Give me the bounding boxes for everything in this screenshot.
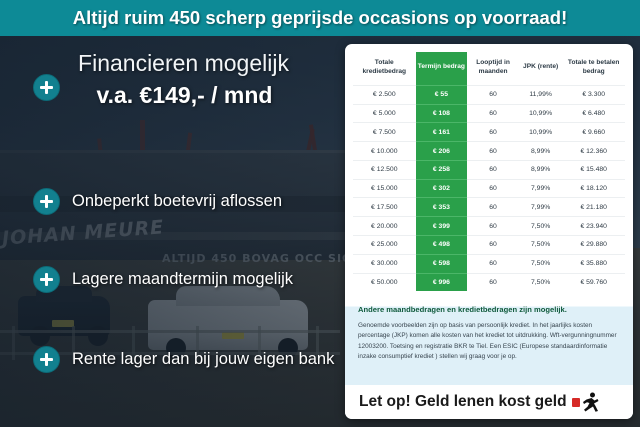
headline-line-1: Financieren mogelijk — [0, 50, 345, 77]
headline-line-2: v.a. €149,- / mnd — [0, 82, 345, 109]
cell-term: € 302 — [416, 179, 468, 198]
cell-apr: 7,99% — [519, 179, 563, 198]
disclaimer-body: Genoemde voorbeelden zijn op basis van p… — [358, 321, 620, 363]
table-row: € 5.000 € 108 60 10,99% € 6.480 — [353, 104, 625, 123]
cell-months: 60 — [467, 179, 519, 198]
cell-months: 60 — [467, 273, 519, 291]
cell-credit: € 20.000 — [353, 217, 416, 236]
plus-icon — [33, 188, 60, 215]
plus-icon — [33, 266, 60, 293]
cell-term: € 353 — [416, 198, 468, 217]
running-man-icon — [572, 392, 599, 412]
cell-apr: 7,50% — [519, 254, 563, 273]
table-row: € 7.500 € 161 60 10,99% € 9.660 — [353, 123, 625, 142]
running-man-glyph — [582, 392, 599, 412]
cell-total: € 3.300 — [562, 85, 625, 104]
cell-total: € 15.480 — [562, 160, 625, 179]
benefit-label: Lagere maandtermijn mogelijk — [72, 270, 293, 289]
cell-credit: € 15.000 — [353, 179, 416, 198]
cell-apr: 10,99% — [519, 123, 563, 142]
cell-term: € 206 — [416, 142, 468, 161]
table-body: € 2.500 € 55 60 11,99% € 3.300 € 5.000 €… — [353, 85, 625, 291]
cell-total: € 9.660 — [562, 123, 625, 142]
cell-term: € 498 — [416, 236, 468, 255]
column-header-credit: Totale kredietbedrag — [353, 52, 416, 85]
benefit-label: Onbeperkt boetevrij aflossen — [72, 192, 282, 211]
cell-months: 60 — [467, 160, 519, 179]
benefit-label: Rente lager dan bij jouw eigen bank — [72, 350, 334, 369]
cell-total: € 29.880 — [562, 236, 625, 255]
column-header-total: Totale te betalen bedrag — [562, 52, 625, 85]
cell-total: € 21.180 — [562, 198, 625, 217]
promo-banner-text: Altijd ruim 450 scherp geprijsde occasio… — [73, 7, 568, 29]
left-content-panel: Financieren mogelijk v.a. €149,- / mnd O… — [0, 36, 345, 427]
cell-apr: 10,99% — [519, 104, 563, 123]
column-header-term: Termijn bedrag — [416, 52, 468, 85]
cell-credit: € 17.500 — [353, 198, 416, 217]
cell-credit: € 10.000 — [353, 142, 416, 161]
credit-warning-text: Let op! Geld lenen kost geld — [359, 393, 567, 411]
table-row: € 12.500 € 258 60 8,99% € 15.480 — [353, 160, 625, 179]
financing-rate-table: Totale kredietbedrag Termijn bedrag Loop… — [353, 52, 625, 291]
cell-term: € 258 — [416, 160, 468, 179]
cell-months: 60 — [467, 104, 519, 123]
cell-total: € 35.880 — [562, 254, 625, 273]
cell-credit: € 2.500 — [353, 85, 416, 104]
cell-term: € 996 — [416, 273, 468, 291]
cell-credit: € 12.500 — [353, 160, 416, 179]
cell-apr: 7,50% — [519, 217, 563, 236]
table-row: € 30.000 € 598 60 7,50% € 35.880 — [353, 254, 625, 273]
cell-credit: € 7.500 — [353, 123, 416, 142]
cell-months: 60 — [467, 142, 519, 161]
warning-red-block — [572, 398, 580, 407]
cell-apr: 7,50% — [519, 236, 563, 255]
finance-headline: Financieren mogelijk v.a. €149,- / mnd — [0, 50, 345, 109]
table-row: € 10.000 € 206 60 8,99% € 12.360 — [353, 142, 625, 161]
table-row: € 17.500 € 353 60 7,99% € 21.180 — [353, 198, 625, 217]
cell-months: 60 — [467, 236, 519, 255]
cell-total: € 18.120 — [562, 179, 625, 198]
cell-apr: 7,99% — [519, 198, 563, 217]
cell-total: € 23.940 — [562, 217, 625, 236]
rate-table-container: Totale kredietbedrag Termijn bedrag Loop… — [345, 44, 633, 295]
cell-term: € 598 — [416, 254, 468, 273]
table-header-row: Totale kredietbedrag Termijn bedrag Loop… — [353, 52, 625, 85]
cell-credit: € 30.000 — [353, 254, 416, 273]
cell-credit: € 50.000 — [353, 273, 416, 291]
cell-term: € 55 — [416, 85, 468, 104]
table-row: € 2.500 € 55 60 11,99% € 3.300 — [353, 85, 625, 104]
benefit-item-1: Onbeperkt boetevrij aflossen — [33, 188, 282, 215]
cell-apr: 8,99% — [519, 160, 563, 179]
benefit-item-3: Rente lager dan bij jouw eigen bank — [33, 346, 334, 373]
column-header-months: Looptijd in maanden — [467, 52, 519, 85]
disclaimer-section: Andere maandbedragen en kredietbedragen … — [345, 295, 633, 362]
table-row: € 15.000 € 302 60 7,99% € 18.120 — [353, 179, 625, 198]
column-header-apr: JPK (rente) — [519, 52, 563, 85]
cell-credit: € 5.000 — [353, 104, 416, 123]
credit-warning-bar: Let op! Geld lenen kost geld — [345, 385, 633, 419]
cell-months: 60 — [467, 123, 519, 142]
table-row: € 50.000 € 996 60 7,50% € 59.760 — [353, 273, 625, 291]
table-row: € 20.000 € 399 60 7,50% € 23.940 — [353, 217, 625, 236]
benefit-item-2: Lagere maandtermijn mogelijk — [33, 266, 293, 293]
table-row: € 25.000 € 498 60 7,50% € 29.880 — [353, 236, 625, 255]
plus-icon — [33, 346, 60, 373]
cell-term: € 161 — [416, 123, 468, 142]
cell-months: 60 — [467, 198, 519, 217]
cell-months: 60 — [467, 85, 519, 104]
disclaimer-title: Andere maandbedragen en kredietbedragen … — [358, 305, 620, 316]
cell-months: 60 — [467, 217, 519, 236]
cell-total: € 6.480 — [562, 104, 625, 123]
financing-table-card: Totale kredietbedrag Termijn bedrag Loop… — [345, 44, 633, 419]
cell-term: € 108 — [416, 104, 468, 123]
cell-credit: € 25.000 — [353, 236, 416, 255]
cell-term: € 399 — [416, 217, 468, 236]
cell-apr: 11,99% — [519, 85, 563, 104]
cell-total: € 59.760 — [562, 273, 625, 291]
cell-apr: 8,99% — [519, 142, 563, 161]
cell-apr: 7,50% — [519, 273, 563, 291]
promo-banner: Altijd ruim 450 scherp geprijsde occasio… — [0, 0, 640, 36]
cell-months: 60 — [467, 254, 519, 273]
cell-total: € 12.360 — [562, 142, 625, 161]
